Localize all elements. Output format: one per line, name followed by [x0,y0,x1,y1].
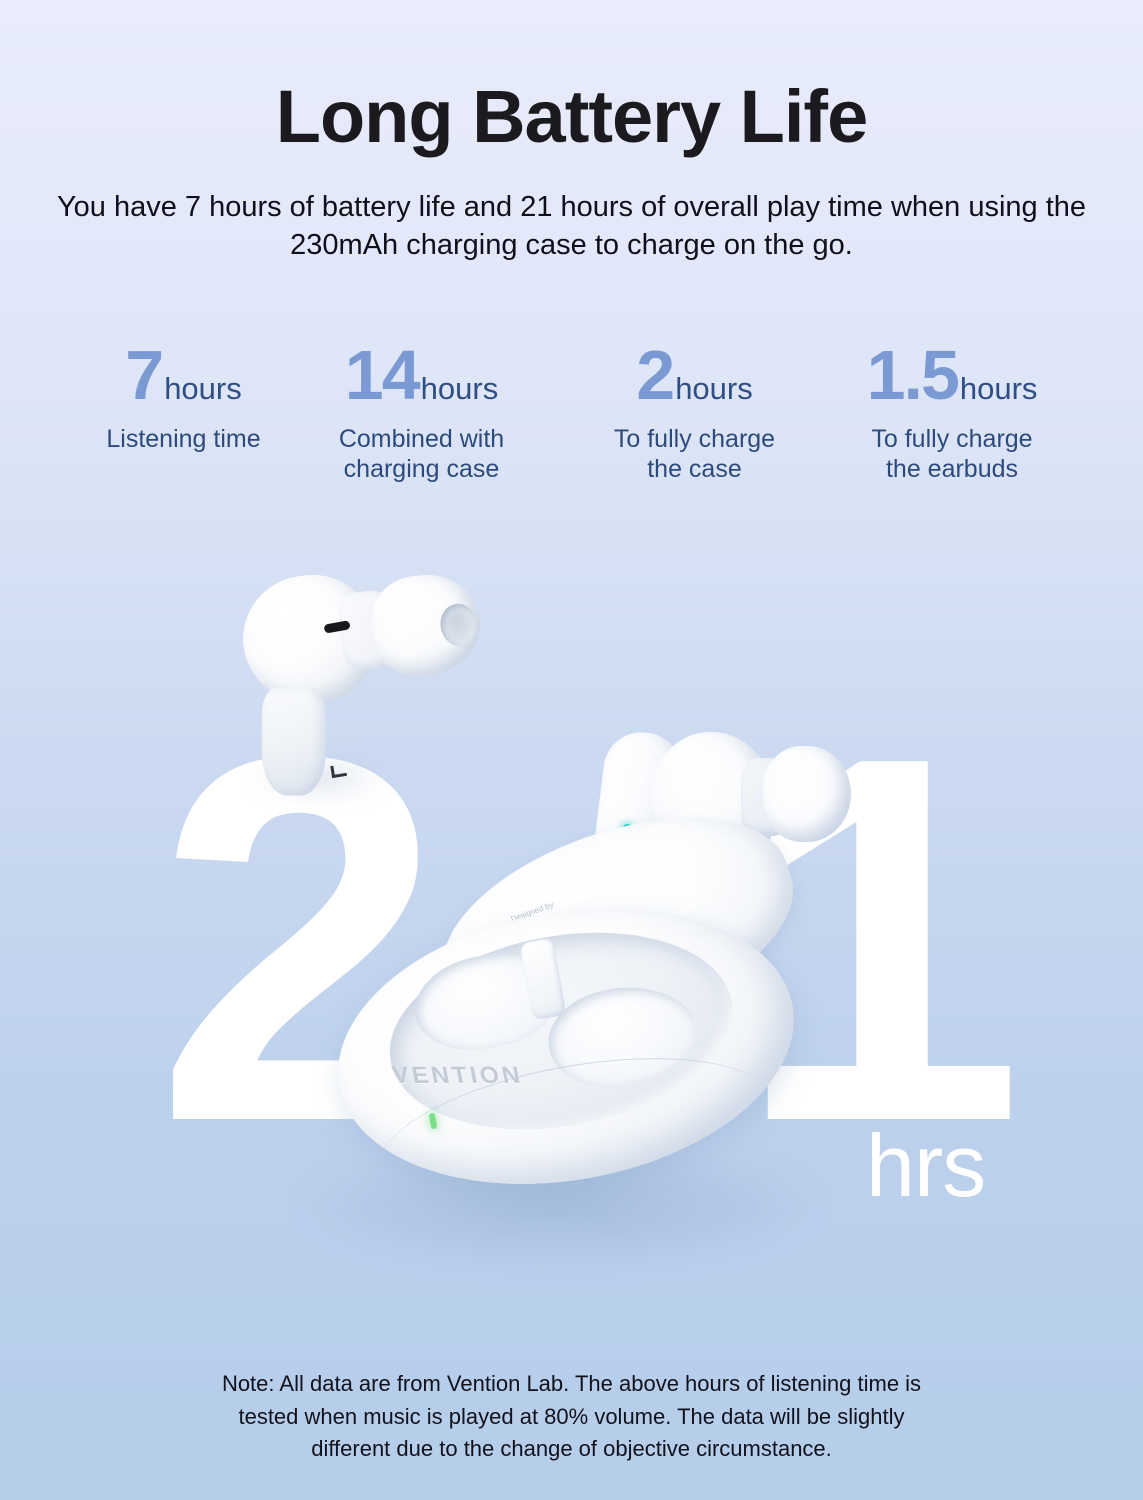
earbud-left-marking [330,764,347,778]
battery-stats-row: 7 hours Listening time 14 hours Combined… [0,340,1143,484]
stat-charge-case: 2 hours To fully charge the case [582,340,807,484]
stat-value-row: 1.5 hours [837,340,1067,412]
stat-unit: hours [421,373,499,404]
stat-number: 2 [636,340,673,410]
stat-unit: hours [164,373,242,404]
disclaimer-note: Note: All data are from Vention Lab. The… [0,1368,1143,1466]
stat-unit: hours [960,373,1038,404]
vention-logo: VENTION [390,1062,525,1089]
stat-value-row: 7 hours [76,340,291,412]
header-block: Long Battery Life You have 7 hours of ba… [0,0,1143,265]
stat-value-row: 2 hours [582,340,807,412]
stat-number: 14 [345,340,419,410]
earbud-silicone-tip [763,746,851,842]
stat-charge-earbuds: 1.5 hours To fully charge the earbuds [837,340,1067,484]
stat-unit: hours [675,373,753,404]
page-title: Long Battery Life [0,80,1143,154]
earbud-stem [262,688,326,796]
stat-number: 7 [125,340,162,410]
watermark-hrs-label: hrs [866,1122,985,1210]
stat-value-row: 14 hours [309,340,534,412]
stat-number: 1.5 [867,340,958,410]
page-subtitle: You have 7 hours of battery life and 21 … [0,188,1143,265]
stat-caption: Listening time [76,424,291,454]
charging-case: Designed by Vention Made in China R VENT… [330,870,860,1200]
stat-caption: Combined with charging case [309,424,534,484]
stat-listening-time: 7 hours Listening time [76,340,291,454]
earbud-left [226,550,500,815]
stat-caption: To fully charge the case [582,424,807,484]
product-hero-image: 2 1 hrs Designed by Vention Made in Chin… [0,540,1143,1330]
stat-combined-with-case: 14 hours Combined with charging case [309,340,534,484]
stat-caption: To fully charge the earbuds [837,424,1067,484]
